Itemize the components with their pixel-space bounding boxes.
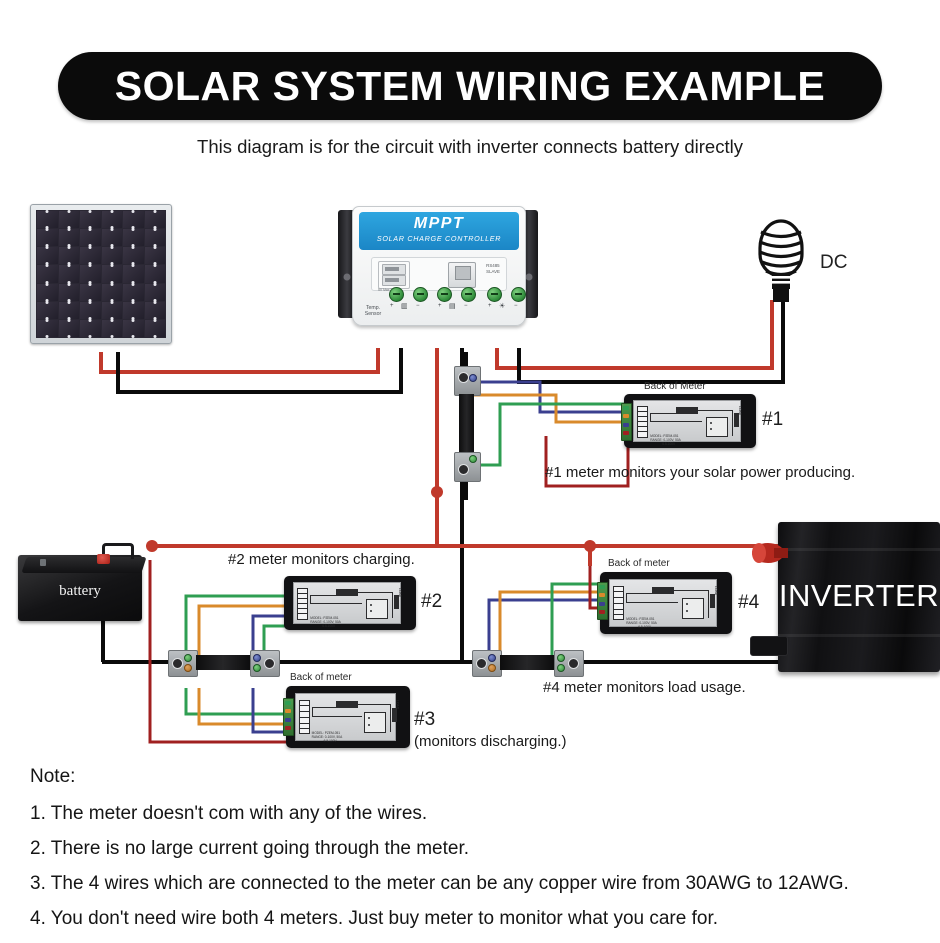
usb-port-icon[interactable] <box>382 275 406 286</box>
current-shunt-2 <box>168 650 278 675</box>
meter-4-id: #4 <box>738 592 759 614</box>
battery: battery <box>18 545 150 623</box>
meter-3-load-label: LOAD <box>396 700 400 709</box>
usb-port-group[interactable] <box>378 261 410 289</box>
rj45-port-icon[interactable] <box>448 262 476 288</box>
meter-1-caption: #1 meter monitors your solar power produ… <box>545 464 855 481</box>
solar-panel-icon: ▥ <box>401 302 408 310</box>
terminal-label-load-plus: + <box>488 303 492 309</box>
terminal-screw-battery-plus[interactable] <box>437 287 452 302</box>
usb-port-icon[interactable] <box>382 264 406 275</box>
meter-2-caption: #2 meter monitors charging. <box>228 551 415 568</box>
solar-panel <box>30 204 172 344</box>
battery-negative-terminal[interactable] <box>40 559 46 566</box>
meter-2-schematic: MODEL: PZEM-051 RANGE: 0-100V, 50A 6.5-1… <box>293 582 401 624</box>
note-item-1: 1. The meter doesn't com with any of the… <box>30 803 920 825</box>
meter-3-schematic: MODEL: PZEM-051 RANGE: 0-100V, 50A 6.5-1… <box>295 693 396 741</box>
terminal-screw-battery-minus[interactable] <box>461 287 476 302</box>
meter-1-terminal-block[interactable] <box>621 403 632 441</box>
inverter-negative-terminal[interactable] <box>750 636 788 656</box>
battery-body: battery <box>18 555 142 621</box>
meter-4-terminal-block[interactable] <box>597 582 608 620</box>
note-item-2: 2. There is no large current going throu… <box>30 838 920 860</box>
meter-3-id: #3 <box>414 709 435 731</box>
meter-1[interactable]: MODEL: PZEM-051 RANGE: 0-100V, 50A 6.5-1… <box>624 394 756 448</box>
current-shunt-4 <box>472 650 582 675</box>
notes-heading: Note: <box>30 766 920 788</box>
temp-sensor-label: Temp.Sensor <box>359 305 387 317</box>
inverter: INVERTER <box>778 522 940 672</box>
meter-1-schematic: MODEL: PZEM-051 RANGE: 0-100V, 50A 6.5-1… <box>633 400 741 442</box>
dc-load-label: DC <box>820 252 847 274</box>
meter-2-sub: 6.5-100V <box>322 625 335 629</box>
terminal-label-solar-minus: − <box>416 303 420 309</box>
page-title: SOLAR SYSTEM WIRING EXAMPLE <box>115 63 826 110</box>
meter-4-schematic: MODEL: PZEM-051 RANGE: 0-100V, 50A 6.5-1… <box>609 579 717 627</box>
meter-3-caption: (monitors discharging.) <box>414 733 567 750</box>
terminal-label-solar-plus: + <box>390 303 394 309</box>
meter-1-id: #1 <box>762 409 783 431</box>
terminal-label-battery-plus: + <box>438 303 442 309</box>
lamp-icon: ☀ <box>499 302 505 310</box>
terminal-screw-load-minus[interactable] <box>511 287 526 302</box>
meter-4-back-label: Back of meter <box>608 558 670 569</box>
meter-3-terminal-block[interactable] <box>283 698 294 736</box>
terminal-label-load-minus: − <box>514 303 518 309</box>
meter-4-sub: 6.5-100V <box>638 626 651 630</box>
solar-panel-cells <box>36 210 166 338</box>
meter-4-caption: #4 meter monitors load usage. <box>543 679 746 696</box>
meter-1-sub: 6.5-100V <box>662 443 675 447</box>
mppt-charge-controller: MPPT SOLAR CHARGE CONTROLLER 5V Max 3.0A… <box>338 206 538 334</box>
meter-3-back-label: Back of meter <box>290 672 352 683</box>
battery-icon: ▤ <box>449 302 456 310</box>
terminal-screw-solar-plus[interactable] <box>389 287 404 302</box>
rs485-slave-label: RS485SLAVE <box>486 263 500 275</box>
note-item-3: 3. The 4 wires which are connected to th… <box>30 873 920 895</box>
meter-2-id: #2 <box>421 591 442 613</box>
meter-2-load-label: LOAD <box>398 588 402 597</box>
controller-brand-bar: MPPT SOLAR CHARGE CONTROLLER <box>359 212 519 250</box>
controller-port-panel: 5V Max 3.0A RS485SLAVE <box>371 257 507 291</box>
meter-4-load-label: LOAD <box>714 586 718 595</box>
meter-3[interactable]: MODEL: PZEM-051 RANGE: 0-100V, 50A 6.5-1… <box>286 686 410 748</box>
dc-bulb-icon <box>752 210 810 302</box>
title-banner: SOLAR SYSTEM WIRING EXAMPLE <box>58 52 882 120</box>
terminal-screw-solar-minus[interactable] <box>413 287 428 302</box>
notes-section: Note: 1. The meter doesn't com with any … <box>30 766 920 943</box>
current-shunt-1 <box>454 366 479 480</box>
inverter-label: INVERTER <box>778 578 940 614</box>
meter-3-sub: 6.5-100V <box>324 740 337 744</box>
meter-4[interactable]: MODEL: PZEM-051 RANGE: 0-100V, 50A 6.5-1… <box>600 572 732 634</box>
meter-2[interactable]: MODEL: PZEM-051 RANGE: 0-100V, 50A 6.5-1… <box>284 576 416 630</box>
subtitle: This diagram is for the circuit with inv… <box>0 136 940 158</box>
meter-1-load-label: LOAD <box>738 406 742 415</box>
battery-label: battery <box>18 583 142 600</box>
diagram-canvas: SOLAR SYSTEM WIRING EXAMPLE This diagram… <box>0 0 940 940</box>
terminal-screw-load-plus[interactable] <box>487 287 502 302</box>
inverter-positive-terminal[interactable] <box>746 542 790 564</box>
note-item-4: 4. You don't need wire both 4 meters. Ju… <box>30 908 920 930</box>
controller-terminal-row: Temp.Sensor + ▥ − + ▤ − + ☀ − <box>375 287 513 319</box>
meter-1-back-label: Back of Meter <box>644 381 706 392</box>
terminal-label-battery-minus: − <box>464 303 468 309</box>
battery-positive-terminal[interactable] <box>97 554 110 564</box>
controller-brand: MPPT <box>359 212 519 234</box>
controller-subtitle: SOLAR CHARGE CONTROLLER <box>359 234 519 243</box>
controller-body: MPPT SOLAR CHARGE CONTROLLER 5V Max 3.0A… <box>352 206 526 326</box>
